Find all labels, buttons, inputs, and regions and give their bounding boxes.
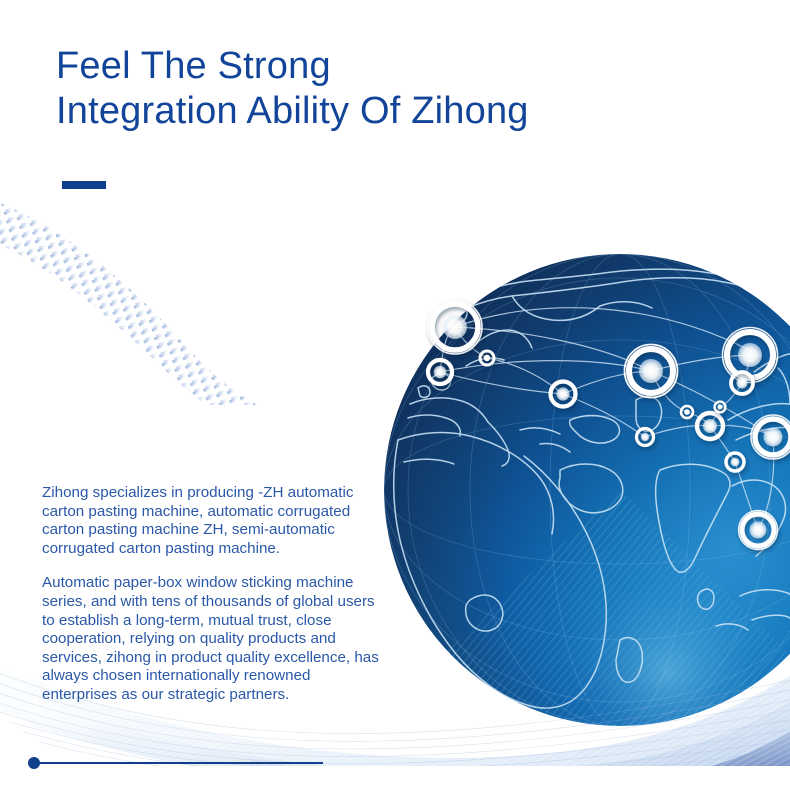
description-block: Zihong specializes in producing -ZH auto… bbox=[42, 484, 387, 705]
page-title: Feel The Strong Integration Ability Of Z… bbox=[56, 44, 696, 134]
title-accent-bar bbox=[62, 181, 106, 189]
title-line-2: Integration Ability Of Zihong bbox=[56, 89, 696, 134]
divider-line bbox=[38, 762, 323, 764]
globe-node-markers bbox=[428, 300, 790, 550]
description-paragraph-2: Automatic paper-box window sticking mach… bbox=[42, 574, 387, 704]
halftone-wave-decoration bbox=[0, 175, 300, 405]
zihong-company-banner: Feel The Strong Integration Ability Of Z… bbox=[0, 0, 790, 790]
description-paragraph-1: Zihong specializes in producing -ZH auto… bbox=[42, 484, 387, 558]
title-line-1: Feel The Strong bbox=[56, 44, 696, 89]
bottom-divider bbox=[28, 756, 323, 770]
